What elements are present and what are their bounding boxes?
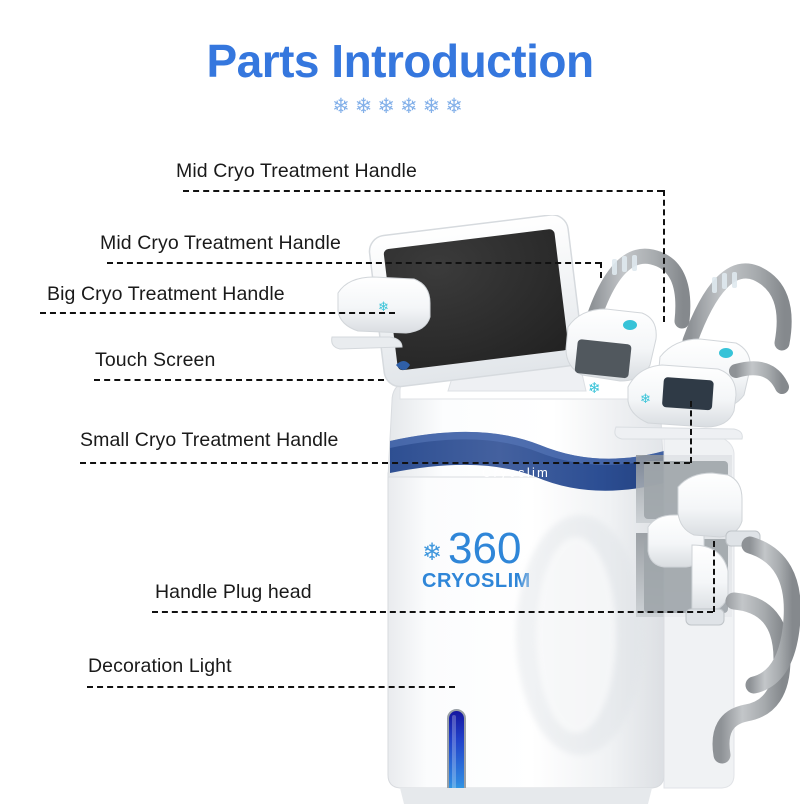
- snowflake-icon: ❄: [400, 96, 423, 117]
- small-cryo-treatment-handle: ❄: [615, 365, 782, 439]
- leader-line-small-cryo-treatment-handle-riser: [690, 401, 692, 463]
- handle-indicator-dot: [623, 320, 637, 330]
- callout-label-mid-cryo-treatment-handle-top: Mid Cryo Treatment Handle: [176, 160, 417, 183]
- leader-line-mid-cryo-treatment-handle-top-riser: [663, 190, 665, 322]
- leader-line-decoration-light: [87, 686, 455, 688]
- svg-text:360: 360: [448, 524, 521, 573]
- handle-indicator-dot: [719, 348, 733, 358]
- callout-label-small-cryo-treatment-handle: Small Cryo Treatment Handle: [80, 429, 338, 452]
- parts-introduction-infographic: Parts Introduction ❄❄❄❄❄❄: [0, 0, 800, 804]
- svg-text:CRYOSLIM: CRYOSLIM: [422, 570, 531, 592]
- device-band-text: Cryoslim: [482, 465, 550, 480]
- leader-line-mid-cryo-treatment-handle-top: [183, 190, 663, 192]
- callout-label-handle-plug-head: Handle Plug head: [155, 581, 312, 604]
- svg-text:❄: ❄: [422, 539, 442, 566]
- page-title: Parts Introduction: [0, 34, 800, 88]
- snowflake-icon: ❄: [377, 96, 400, 117]
- callout-label-mid-cryo-treatment-handle: Mid Cryo Treatment Handle: [100, 232, 341, 255]
- leader-line-handle-plug-head: [152, 611, 713, 613]
- callout-label-decoration-light: Decoration Light: [88, 655, 232, 678]
- callout-label-touch-screen: Touch Screen: [95, 349, 215, 372]
- leader-line-mid-cryo-treatment-handle: [107, 262, 601, 264]
- snowflake-divider: ❄❄❄❄❄❄: [0, 96, 800, 117]
- svg-text:❄: ❄: [588, 380, 601, 397]
- leader-line-mid-cryo-treatment-handle-riser: [600, 262, 602, 278]
- snowflake-icon: ❄: [445, 96, 468, 117]
- svg-text:❄: ❄: [640, 391, 651, 406]
- snowflake-icon: ❄: [332, 96, 355, 117]
- snowflake-icon: ❄: [355, 96, 378, 117]
- callout-label-big-cryo-treatment-handle: Big Cryo Treatment Handle: [47, 283, 285, 306]
- cryolipolysis-machine-illustration: Cryoslim ❄ 360 CRYOSLIM: [330, 215, 800, 804]
- leader-line-touch-screen: [94, 379, 384, 381]
- leader-line-handle-plug-head-riser: [713, 541, 715, 612]
- leader-line-big-cryo-treatment-handle: [40, 312, 395, 314]
- leader-line-small-cryo-treatment-handle: [80, 462, 690, 464]
- snowflake-icon: ❄: [423, 96, 446, 117]
